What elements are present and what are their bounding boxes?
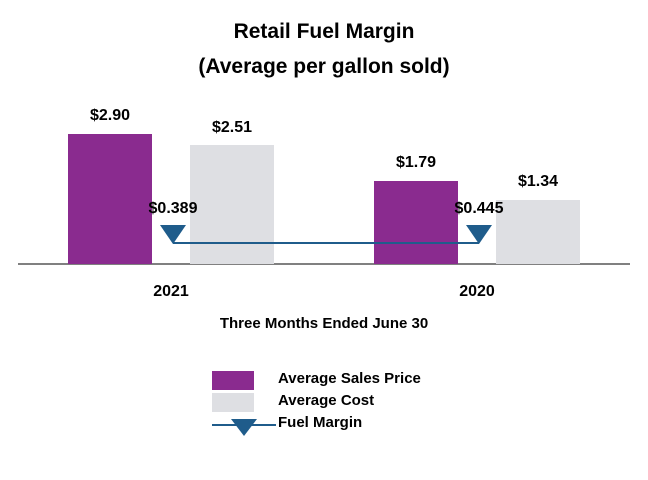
legend-item-fuel-margin: Fuel Margin: [212, 414, 512, 436]
bar-label-sales-price-2020: $1.79: [374, 154, 458, 172]
legend-item-average-sales-price: Average Sales Price: [212, 370, 512, 392]
chart-title: Retail Fuel Margin: [0, 20, 648, 44]
bar-label-sales-price-2021: $2.90: [68, 107, 152, 125]
x-axis-title: Three Months Ended June 30: [0, 315, 648, 332]
bar-label-cost-2020: $1.34: [496, 173, 580, 191]
chart-legend: Average Sales Price Average Cost Fuel Ma…: [212, 370, 512, 436]
bar-sales-price-2020: [374, 181, 458, 264]
fuel-margin-label-2021: $0.389: [113, 200, 233, 218]
category-label-2020: 2020: [417, 283, 537, 301]
chart-subtitle: (Average per gallon sold): [0, 55, 648, 79]
fuel-margin-marker-2021: [160, 225, 186, 244]
legend-line-triangle-icon: [212, 414, 276, 436]
legend-label-fuel-margin: Fuel Margin: [278, 414, 362, 431]
fuel-margin-marker-2020: [466, 225, 492, 244]
legend-label-average-sales-price: Average Sales Price: [278, 370, 421, 387]
legend-triangle-icon: [231, 419, 257, 436]
legend-item-average-cost: Average Cost: [212, 392, 512, 414]
bar-label-cost-2021: $2.51: [190, 119, 274, 137]
chart-container: Retail Fuel Margin (Average per gallon s…: [0, 0, 648, 480]
legend-label-average-cost: Average Cost: [278, 392, 374, 409]
fuel-margin-line: [173, 242, 479, 244]
fuel-margin-label-2020: $0.445: [419, 200, 539, 218]
legend-swatch-gray-icon: [212, 393, 254, 412]
legend-swatch-purple-icon: [212, 371, 254, 390]
bar-sales-price-2021: [68, 134, 152, 264]
category-label-2021: 2021: [111, 283, 231, 301]
